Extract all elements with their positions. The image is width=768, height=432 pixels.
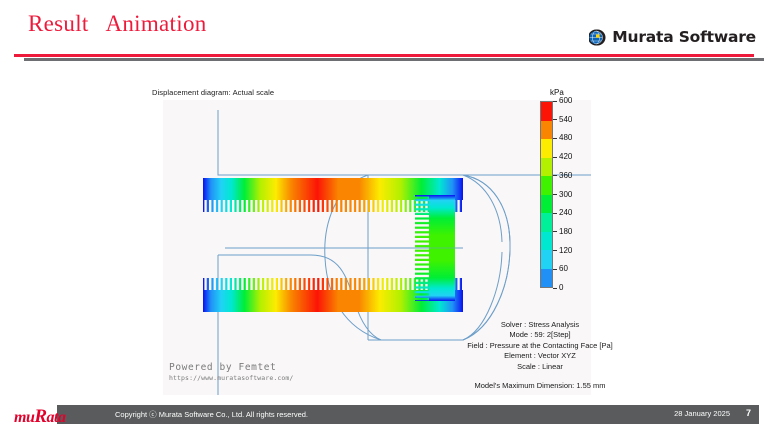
- wordmark-tail: ata: [47, 409, 66, 426]
- colorbar-strip: [540, 101, 553, 288]
- diagram-caption: Displacement diagram: Actual scale: [150, 87, 277, 98]
- colorbar-tick-label: 240: [559, 208, 572, 217]
- colorbar-tick-label: 420: [559, 152, 572, 161]
- colorbar-band-5: [541, 195, 552, 214]
- murata-software-logo: Murata Software: [589, 28, 756, 46]
- colorbar-tick-label: 300: [559, 190, 572, 199]
- colorbar-tick-mark: [553, 138, 557, 139]
- colorbar-tick-label: 600: [559, 96, 572, 105]
- footer-page-number: 7: [746, 408, 751, 418]
- info-line-solver: Solver : Stress Analysis: [405, 320, 675, 330]
- footer-date: 28 January 2025: [674, 409, 730, 418]
- model-max-dimension-label: Model's Maximum Dimension: 1.55 mm: [405, 381, 675, 390]
- colorbar-band-1: [541, 121, 552, 140]
- colorbar-tick-label: 540: [559, 115, 572, 124]
- colorbar-tick-mark: [553, 119, 557, 120]
- colorbar-tick-mark: [553, 213, 557, 214]
- femtet-watermark-url: https://www.muratasoftware.com/: [169, 374, 293, 383]
- analysis-info-block: Solver : Stress Analysis Mode : 59: 2[St…: [405, 320, 675, 372]
- brand-name-label: Murata Software: [612, 28, 756, 46]
- wordmark-cap: R: [34, 406, 46, 427]
- colorbar-band-7: [541, 232, 552, 251]
- colorbar-band-3: [541, 158, 552, 177]
- footer-copyright: Copyright ⓒ Murata Software Co., Ltd. Al…: [115, 409, 308, 420]
- colorbar-band-6: [541, 213, 552, 232]
- info-line-element: Element : Vector XYZ: [405, 351, 675, 361]
- colorbar-tick-mark: [553, 157, 557, 158]
- colorbar-tick-list: 600540480420360300240180120600: [553, 101, 592, 288]
- colorbar-band-9: [541, 269, 552, 288]
- colorbar-legend: kPa 600540480420360300240180120600: [536, 88, 592, 300]
- colorbar-tick-mark: [553, 175, 557, 176]
- header-rule-accent: [14, 54, 754, 57]
- murata-wordmark: muRata: [14, 406, 65, 428]
- page-title: Result Animation: [28, 11, 207, 37]
- femtet-watermark: Powered by Femtet https://www.muratasoft…: [169, 362, 293, 383]
- colorbar-band-4: [541, 176, 552, 195]
- colorbar-tick-mark: [553, 288, 557, 289]
- header-rule-shadow: [24, 58, 764, 61]
- colorbar-tick-mark: [553, 269, 557, 270]
- colorbar-tick-label: 180: [559, 227, 572, 236]
- colorbar-tick-label: 60: [559, 264, 568, 273]
- info-line-mode: Mode : 59: 2[Step]: [405, 330, 675, 340]
- colorbar-band-0: [541, 102, 552, 121]
- colorbar-tick-mark: [553, 231, 557, 232]
- colorbar-tick-mark: [553, 194, 557, 195]
- colorbar-tick-label: 480: [559, 133, 572, 142]
- colorbar-band-2: [541, 139, 552, 158]
- wordmark-lead: mu: [14, 409, 34, 426]
- info-line-scale: Scale : Linear: [405, 362, 675, 372]
- colorbar-tick-label: 0: [559, 283, 563, 292]
- murata-globe-icon: [589, 29, 606, 46]
- colorbar-tick-label: 120: [559, 246, 572, 255]
- colorbar-tick-mark: [553, 250, 557, 251]
- femtet-watermark-title: Powered by Femtet: [169, 362, 293, 374]
- colorbar-tick-label: 360: [559, 171, 572, 180]
- info-line-field: Field : Pressure at the Contacting Face …: [405, 341, 675, 351]
- colorbar-band-8: [541, 250, 552, 269]
- colorbar-tick-mark: [553, 101, 557, 102]
